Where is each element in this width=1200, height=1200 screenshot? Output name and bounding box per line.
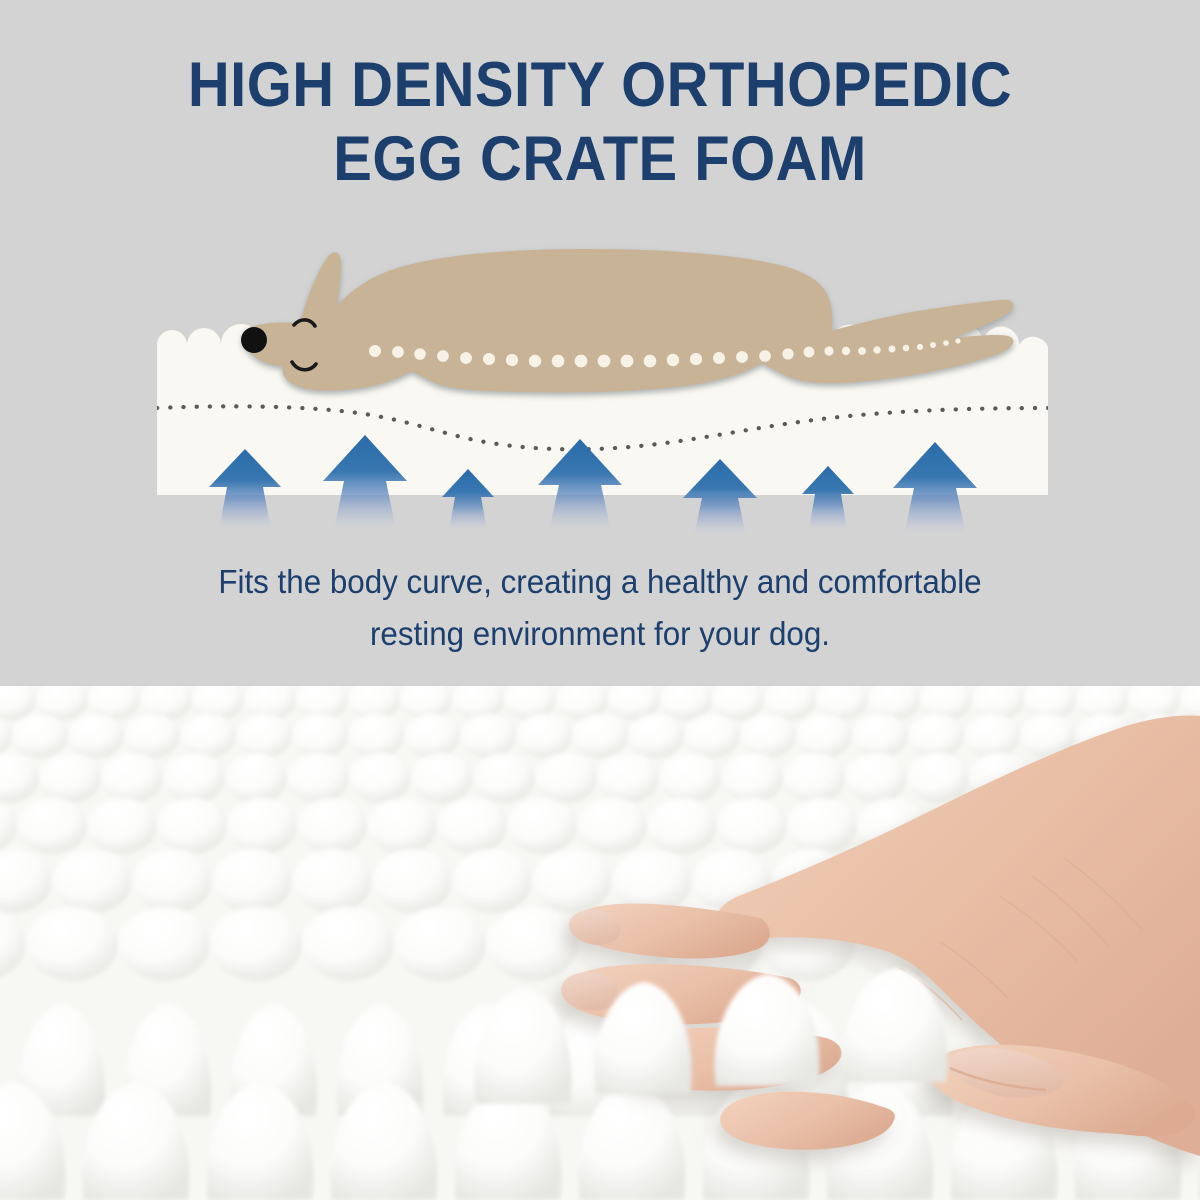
foam-photo bbox=[0, 686, 1200, 1200]
infographic-page: HIGH DENSITY ORTHOPEDIC EGG CRATE FOAM bbox=[0, 0, 1200, 1200]
dog-on-foam-illustration bbox=[0, 230, 1200, 550]
sleeping-dog bbox=[242, 249, 1014, 392]
dog-nose bbox=[241, 327, 267, 353]
caption-text: Fits the body curve, creating a healthy … bbox=[30, 556, 1170, 660]
page-title: HIGH DENSITY ORTHOPEDIC EGG CRATE FOAM bbox=[48, 48, 1152, 196]
top-gray-panel: HIGH DENSITY ORTHOPEDIC EGG CRATE FOAM bbox=[0, 0, 1200, 686]
